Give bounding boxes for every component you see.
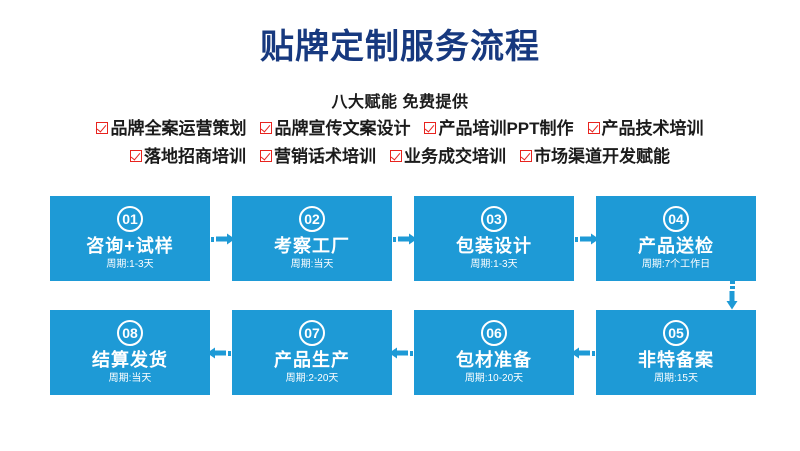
step-cycle: 周期:1-3天 xyxy=(106,258,153,272)
checkbox-checked-icon xyxy=(424,122,436,134)
step-title: 咨询+试样 xyxy=(86,235,174,257)
feature-row-1: 品牌全案运营策划 品牌宣传文案设计 产品培训PPT制作 产品技术培训 xyxy=(0,114,800,142)
flow-row-bottom: 08 结算发货 周期:当天 07 产品生产 周期:2-20天 xyxy=(50,310,756,395)
flow-connector-05-06 xyxy=(574,310,596,395)
flow-step-05[interactable]: 05 非特备案 周期:15天 xyxy=(596,310,756,395)
flow-connector-07-08 xyxy=(210,310,232,395)
feature-list: 品牌全案运营策划 品牌宣传文案设计 产品培训PPT制作 产品技术培训 落地招商培… xyxy=(0,114,800,170)
step-title: 考察工厂 xyxy=(274,235,350,257)
page-subtitle: 八大赋能 免费提供 xyxy=(0,88,800,112)
step-number-badge: 05 xyxy=(663,320,689,346)
step-number-badge: 04 xyxy=(663,206,689,232)
feature-item: 品牌全案运营策划 xyxy=(96,120,246,137)
step-title: 包材准备 xyxy=(456,349,532,371)
checkbox-checked-icon xyxy=(588,122,600,134)
feature-item: 营销话术培训 xyxy=(260,148,376,165)
feature-item: 产品培训PPT制作 xyxy=(424,120,573,137)
feature-label: 落地招商培训 xyxy=(144,148,246,165)
step-number-badge: 08 xyxy=(117,320,143,346)
flow-step-06[interactable]: 06 包材准备 周期:10-20天 xyxy=(414,310,574,395)
step-number-badge: 07 xyxy=(299,320,325,346)
feature-item: 品牌宣传文案设计 xyxy=(260,120,410,137)
flow-row-top: 01 咨询+试样 周期:1-3天 02 考察工厂 周期:当天 xyxy=(50,196,756,281)
flow-connector-01-02 xyxy=(210,196,232,281)
step-cycle: 周期:1-3天 xyxy=(470,258,517,272)
step-number-badge: 01 xyxy=(117,206,143,232)
flow-step-07[interactable]: 07 产品生产 周期:2-20天 xyxy=(232,310,392,395)
feature-label: 营销话术培训 xyxy=(274,148,376,165)
feature-item: 市场渠道开发赋能 xyxy=(520,148,670,165)
checkbox-checked-icon xyxy=(390,150,402,162)
flow-connector-03-04 xyxy=(574,196,596,281)
step-title: 包装设计 xyxy=(456,235,532,257)
flow-connector-06-07 xyxy=(392,310,414,395)
feature-label: 产品培训PPT制作 xyxy=(438,120,573,137)
step-title: 结算发货 xyxy=(92,349,168,371)
step-number-badge: 02 xyxy=(299,206,325,232)
flow-step-03[interactable]: 03 包装设计 周期:1-3天 xyxy=(414,196,574,281)
feature-row-2: 落地招商培训 营销话术培训 业务成交培训 市场渠道开发赋能 xyxy=(0,142,800,170)
feature-label: 产品技术培训 xyxy=(602,120,704,137)
feature-label: 业务成交培训 xyxy=(404,148,506,165)
checkbox-checked-icon xyxy=(260,150,272,162)
step-cycle: 周期:7个工作日 xyxy=(642,258,710,272)
checkbox-checked-icon xyxy=(520,150,532,162)
flow-step-04[interactable]: 04 产品送检 周期:7个工作日 xyxy=(596,196,756,281)
feature-label: 品牌全案运营策划 xyxy=(110,120,246,137)
step-cycle: 周期:15天 xyxy=(654,372,698,386)
feature-label: 市场渠道开发赋能 xyxy=(534,148,670,165)
flowchart-page: 贴牌定制服务流程 八大赋能 免费提供 品牌全案运营策划 品牌宣传文案设计 产品培… xyxy=(0,0,800,451)
feature-item: 业务成交培训 xyxy=(390,148,506,165)
page-title: 贴牌定制服务流程 xyxy=(0,26,800,68)
checkbox-checked-icon xyxy=(130,150,142,162)
checkbox-checked-icon xyxy=(96,122,108,134)
flow-step-02[interactable]: 02 考察工厂 周期:当天 xyxy=(232,196,392,281)
checkbox-checked-icon xyxy=(260,122,272,134)
arrow-down-icon xyxy=(726,281,738,310)
step-title: 产品送检 xyxy=(638,235,714,257)
flow-connector-02-03 xyxy=(392,196,414,281)
step-number-badge: 06 xyxy=(481,320,507,346)
feature-label: 品牌宣传文案设计 xyxy=(274,120,410,137)
feature-item: 落地招商培训 xyxy=(130,148,246,165)
step-number-badge: 03 xyxy=(481,206,507,232)
step-cycle: 周期:当天 xyxy=(109,372,152,386)
step-title: 产品生产 xyxy=(274,349,350,371)
step-cycle: 周期:2-20天 xyxy=(286,372,339,386)
step-title: 非特备案 xyxy=(638,349,714,371)
flow-step-08[interactable]: 08 结算发货 周期:当天 xyxy=(50,310,210,395)
process-flow-diagram: 01 咨询+试样 周期:1-3天 02 考察工厂 周期:当天 xyxy=(50,196,756,396)
step-cycle: 周期:10-20天 xyxy=(465,372,523,386)
feature-item: 产品技术培训 xyxy=(588,120,704,137)
flow-step-01[interactable]: 01 咨询+试样 周期:1-3天 xyxy=(50,196,210,281)
step-cycle: 周期:当天 xyxy=(291,258,334,272)
